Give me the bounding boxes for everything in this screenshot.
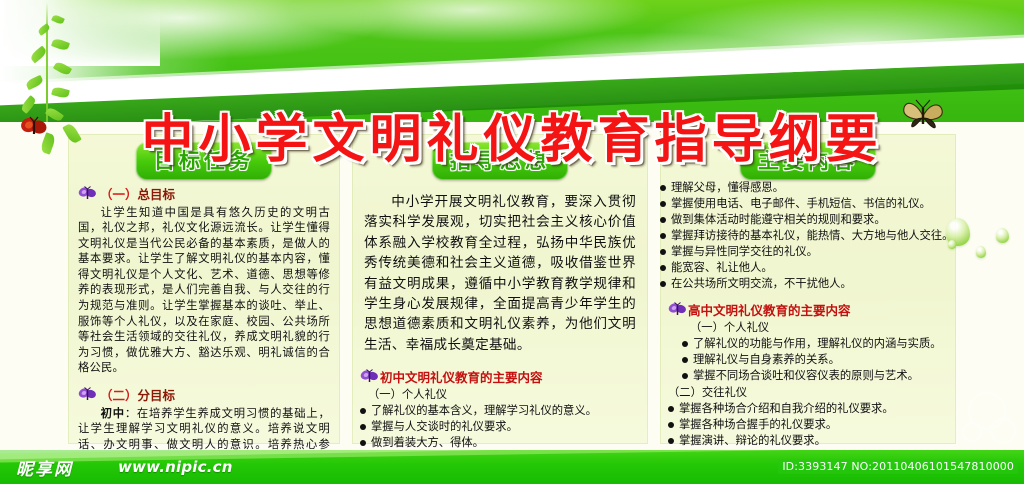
panel-main-content: 主要内容 理解父母，懂得感恩。 掌握使用电话、电子邮件、手机短信、书信的礼仪。 … — [660, 134, 956, 444]
senior-content-title: 高中文明礼仪教育的主要内容 — [688, 302, 948, 319]
guiding-ideology-paragraph: 中小学开展文明礼仪教育，要深入贯彻落实科学发展观，切实把社会主义核心价值体系融入… — [364, 192, 636, 355]
section-name: 总目标 — [138, 187, 176, 202]
junior-content-title: 初中文明礼仪教育的主要内容 — [380, 369, 640, 386]
section-sub-goal-heading: （二）分目标 — [100, 387, 330, 405]
footer-bar: 昵享网 www.nipic.cn ID:3393147 NO:201104061… — [0, 450, 1024, 484]
bubble-circle — [962, 422, 982, 442]
water-droplet-decoration — [948, 240, 956, 249]
list-item: 掌握与人交谈时的礼仪要求。 — [360, 419, 640, 435]
watermark-logo: 昵享网 — [16, 455, 73, 480]
water-droplet-decoration — [976, 246, 986, 258]
list-item: 掌握演讲、辩论的礼仪要求。 — [668, 433, 948, 449]
panel1-body: （一）总目标 让学生知道中国是具有悠久历史的文明古国，礼仪之邦，礼仪文化源远流长… — [68, 186, 340, 484]
list-item: 掌握拜访接待的基本礼仪，能热情、大方地与他人交往。 — [660, 228, 956, 244]
water-droplet-decoration — [996, 228, 1009, 243]
main-content-top-list: 理解父母，懂得感恩。 掌握使用电话、电子邮件、手机短信、书信的礼仪。 做到集体活… — [660, 180, 956, 292]
section-overall-goal: （一）总目标 让学生知道中国是具有悠久历史的文明古国，礼仪之邦，礼仪文化源远流长… — [78, 186, 330, 376]
panel3-body: 理解父母，懂得感恩。 掌握使用电话、电子邮件、手机短信、书信的礼仪。 做到集体活… — [660, 180, 956, 484]
list-item: 能宽容、礼让他人。 — [660, 260, 956, 276]
section-number: （一） — [100, 187, 138, 202]
list-item: 理解礼仪与自身素养的关系。 — [682, 352, 948, 368]
section-name: 分目标 — [138, 388, 176, 403]
list-item: 掌握与异性同学交往的礼仪。 — [660, 244, 956, 260]
butterfly-bullet-icon — [360, 369, 379, 384]
list-item: 掌握不同场合谈吐和仪容仪表的原则与艺术。 — [682, 368, 948, 384]
leaf-icon — [37, 23, 51, 36]
red-butterfly-icon — [20, 116, 50, 140]
panel-goals-tasks: 目标任务 （一）总目标 让学生知道中国是具有悠久历史的文明古国，礼仪之邦，礼仪文… — [68, 134, 340, 444]
butterfly-bullet-icon — [78, 387, 97, 402]
list-item: 在公共场所文明交流，不干扰他人。 — [660, 276, 956, 292]
panel-guiding-ideology: 指导思想 中小学开展文明礼仪教育，要深入贯彻落实科学发展观，切实把社会主义核心价… — [352, 134, 648, 444]
senior-group2-label: （二）交往礼仪 — [668, 385, 948, 401]
list-item: 掌握使用电话、电子邮件、手机短信、书信的礼仪。 — [660, 196, 956, 212]
section-overall-goal-paragraph: 让学生知道中国是具有悠久历史的文明古国，礼仪之邦，礼仪文化源远流长。让学生懂得文… — [78, 205, 330, 376]
section-overall-goal-heading: （一）总目标 — [100, 186, 330, 204]
leaf-icon — [25, 75, 44, 90]
list-item: 做到着装大方、得体。 — [360, 435, 640, 451]
leaf-icon — [53, 60, 72, 76]
watermark-url[interactable]: www.nipic.cn — [118, 458, 233, 476]
senior-group1-list: 了解礼仪的功能与作用，理解礼仪的内涵与实质。 理解礼仪与自身素养的关系。 掌握不… — [668, 336, 948, 384]
panel2-body: 中小学开展文明礼仪教育，要深入贯彻落实科学发展观，切实把社会主义核心价值体系融入… — [352, 192, 648, 484]
poster: 中小学文明礼仪教育指导纲要 — [0, 0, 1024, 484]
leaf-icon — [51, 14, 65, 25]
image-id-label: ID:3393147 NO:20110406101547810000 — [778, 459, 1018, 474]
junior-group1-label: （一）个人礼仪 — [368, 387, 640, 403]
list-item: 理解父母，懂得感恩。 — [660, 180, 956, 196]
leaf-icon — [51, 37, 70, 51]
butterfly-bullet-icon — [668, 302, 687, 317]
list-item: 了解礼仪的基本含义，理解学习礼仪的意义。 — [360, 403, 640, 419]
list-item: 做到集体活动时能遵守相关的规则和要求。 — [660, 212, 956, 228]
list-item: 掌握各种场合介绍和自我介绍的礼仪要求。 — [668, 401, 948, 417]
section-number: （二） — [100, 388, 138, 403]
bubble-circle — [990, 418, 1016, 444]
swallowtail-butterfly-icon — [900, 96, 946, 134]
list-item: 掌握各种场合握手的礼仪要求。 — [668, 417, 948, 433]
butterfly-bullet-icon — [78, 186, 97, 201]
page-title: 中小学文明礼仪教育指导纲要 — [0, 97, 1024, 172]
senior-group1-label: （一）个人礼仪 — [690, 320, 948, 336]
list-item: 了解礼仪的功能与作用，理解礼仪的内涵与实质。 — [682, 336, 948, 352]
